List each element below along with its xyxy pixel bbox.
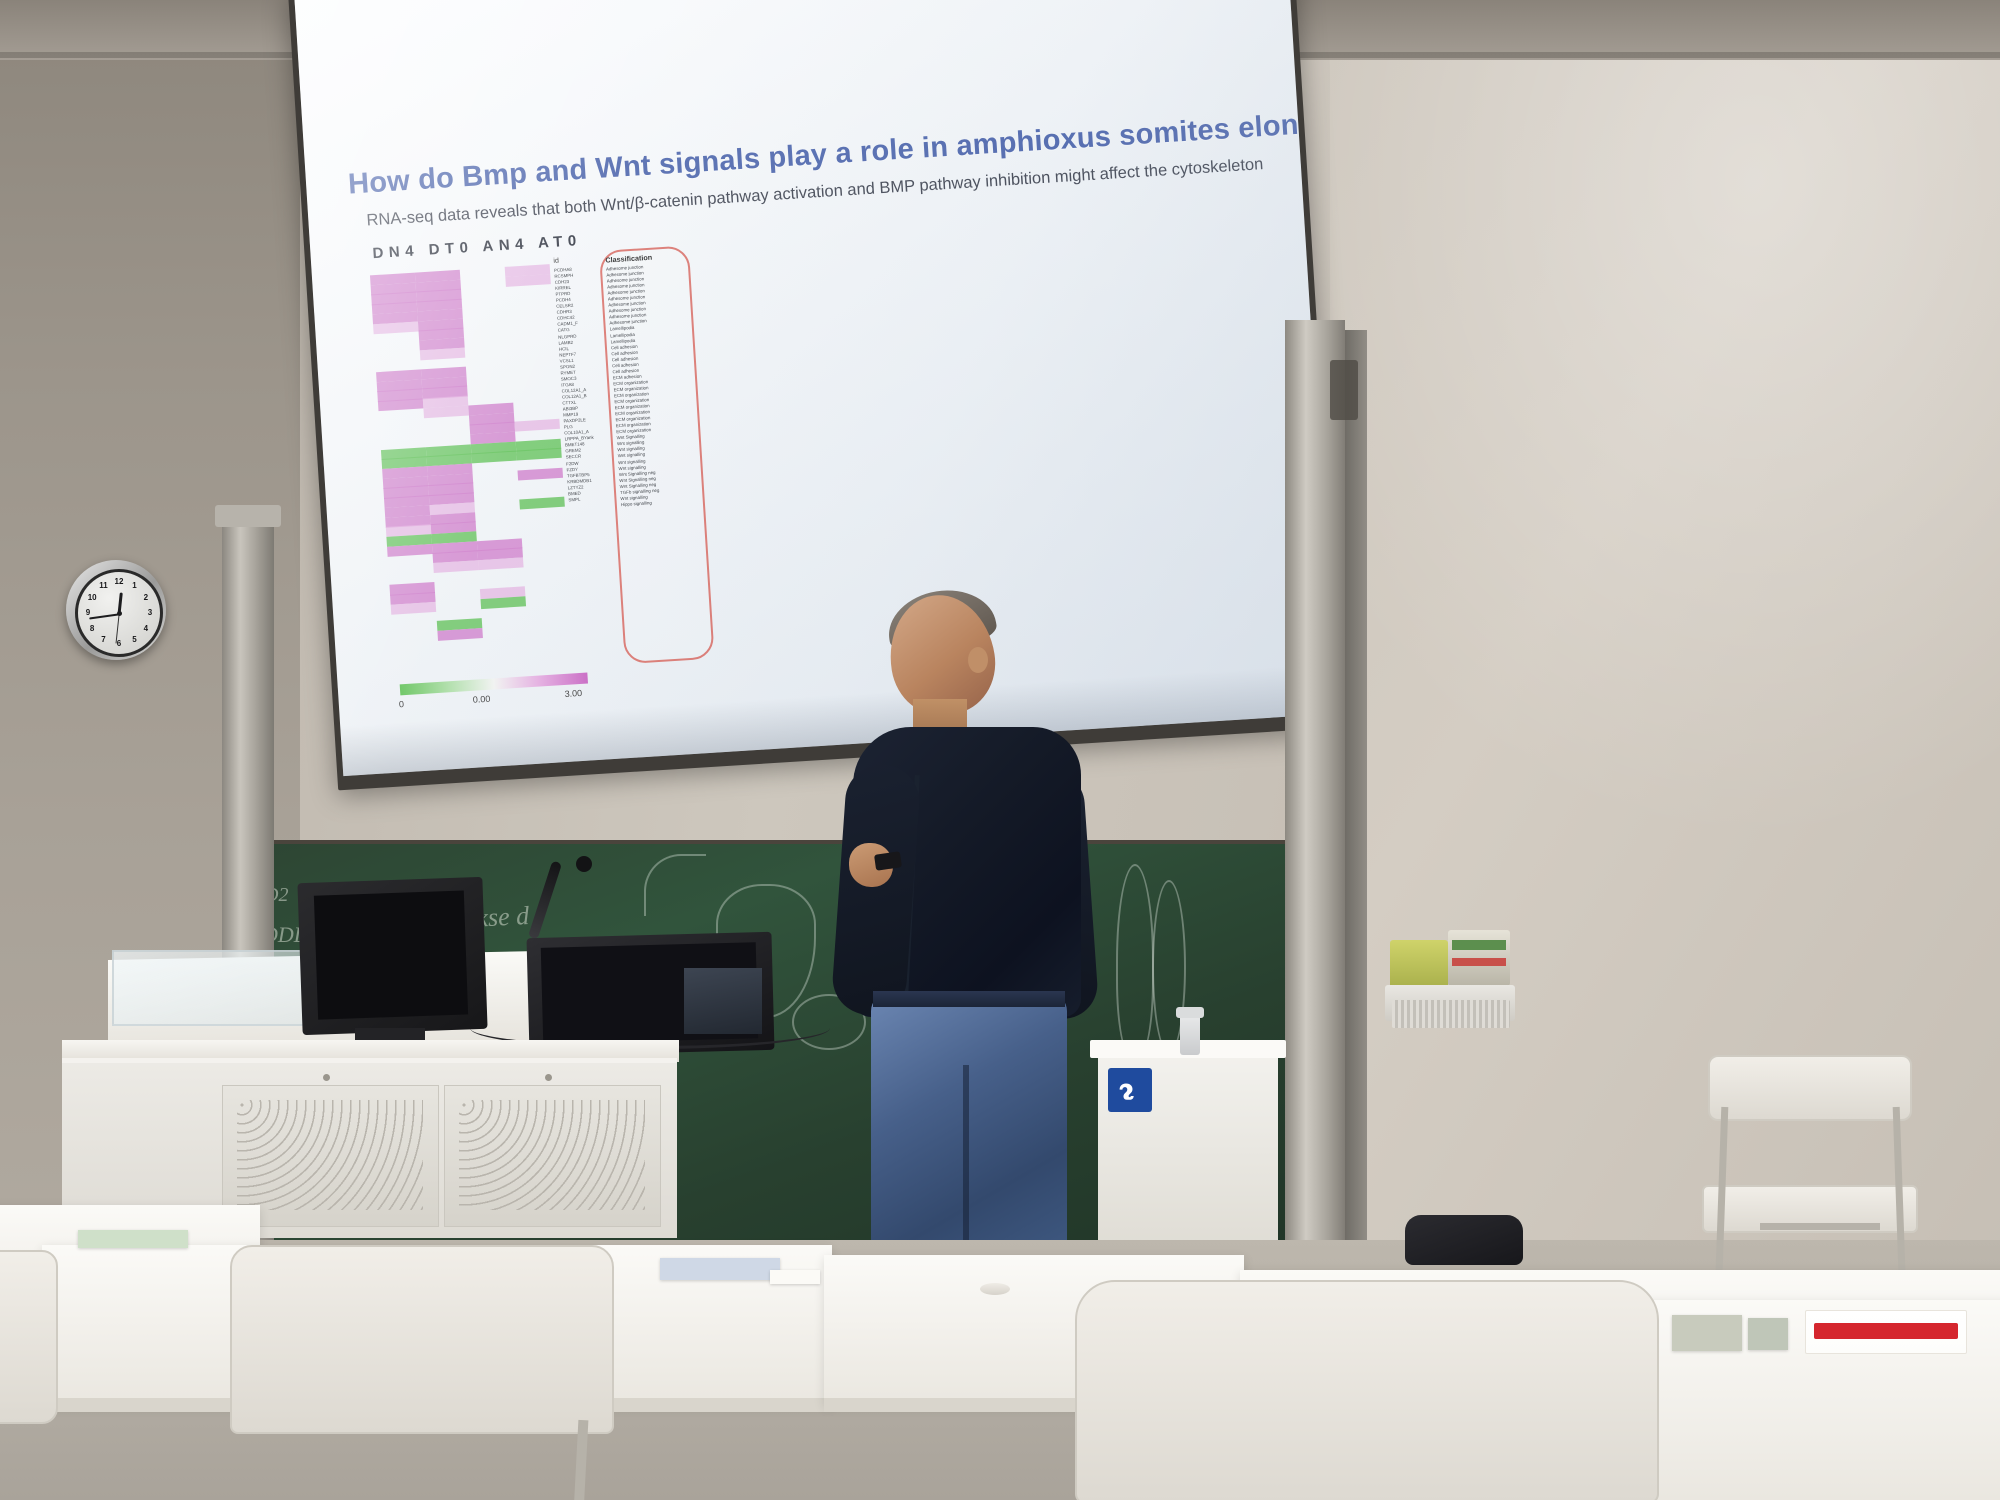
desk-cup-1[interactable] [980,1283,1010,1295]
heatmap-grid [370,264,574,665]
flyer-red-band [1814,1323,1958,1339]
backpack[interactable] [1405,1215,1523,1265]
presenter-jeans [871,993,1067,1255]
screen-support-post-right [1285,320,1345,1260]
spray-bottle[interactable] [1180,1015,1200,1055]
desktop-monitor[interactable] [297,877,487,1035]
control-panel[interactable] [684,968,762,1034]
presenter [835,595,1135,1255]
classification-list: Adhesome junctionAdhesome junctionAdheso… [606,262,701,508]
screen-post-cap [215,505,281,527]
chalk-box[interactable] [1448,930,1510,986]
colorbar-low-label: 0 [399,699,405,709]
wall-speaker [1330,360,1358,420]
clock-numeral: 10 [86,593,98,602]
heatmap-cell [391,602,437,615]
spray-bottle-nozzle [1176,1007,1204,1018]
cabinet-vent-right [459,1100,645,1210]
chair-front-left[interactable] [0,1250,54,1500]
cabinet-vent-left [237,1100,423,1210]
clock-numeral: 8 [86,624,98,633]
heatmap-cell [437,628,483,641]
presenter-ear [968,647,988,673]
heatmap-cell [373,321,419,334]
chalk-drawing-curve [644,854,706,916]
chair-right-back[interactable] [1700,1055,1920,1295]
colorbar-high-label: 3.00 [564,688,582,699]
wall-shelf-rack [1392,1000,1510,1028]
paper-handout-1[interactable] [78,1230,188,1248]
colorbar-mid-label: 0.00 [472,694,490,705]
paper-handout-3[interactable] [770,1270,820,1284]
heatmap-cell [420,347,466,360]
heatmap-cell [480,596,526,609]
paper-flyer[interactable] [1805,1310,1967,1354]
clock-numeral: 6 [113,639,125,648]
monitor-screen [314,890,468,1019]
heatmap-cell [505,274,551,287]
chair-backrest [1708,1055,1912,1121]
clock-numeral: 1 [129,581,141,590]
cabinet-knob-right[interactable] [545,1074,552,1081]
clock-numeral: 5 [129,635,141,644]
cabinet-door-right[interactable] [444,1085,661,1227]
heatmap-id-header: id [553,258,559,265]
clock-numeral: 7 [98,635,110,644]
chair-front-left-backrest [0,1250,58,1424]
screen-support-post-right-edge [1345,330,1367,1255]
clock-numeral: 11 [98,581,110,590]
heatmap-cell [478,557,524,570]
paper-photo-2[interactable] [1748,1318,1788,1350]
chair-leg-c [1760,1223,1880,1230]
lecture-hall-photo: merdakse d D2 DDD1 EXXFM How do Bmp and … [0,0,2000,1500]
clock-face: 121234567891011 [75,569,163,657]
heatmap-cell [433,560,479,573]
chalk-box-stripe-red [1452,958,1506,966]
clock-numeral: 12 [113,577,125,586]
heatmap-cell [516,448,562,461]
projection-screen: How do Bmp and Wnt signals play a role i… [288,0,1347,800]
heatmap-cell [387,544,433,557]
glass-panel [112,950,326,1026]
clock-numeral: 9 [82,608,94,617]
heatmap-cell [378,398,424,411]
chair-front-middle[interactable] [230,1245,610,1500]
clock-center-pin [117,611,122,616]
clock-numeral: 2 [140,593,152,602]
chalk-box-stripe-green [1452,940,1506,950]
cabinet-knob-left[interactable] [323,1074,330,1081]
heatmap-cell [517,467,563,480]
heatmap-cell [423,405,469,418]
chair-front-right-backrest [1075,1280,1659,1500]
heatmap-cell [514,419,560,432]
chair-front-middle-backrest [230,1245,614,1434]
wall-clock: 121234567891011 [66,560,166,660]
clock-numeral: 3 [144,608,156,617]
presenter-jeans-seam [963,1065,969,1255]
presenter-belt [873,991,1065,1007]
projected-slide: How do Bmp and Wnt signals play a role i… [294,0,1335,776]
paper-handout-2[interactable] [660,1258,780,1280]
heatmap-cell [471,451,517,464]
microphone-head [576,856,592,872]
paper-photo-1[interactable] [1672,1315,1742,1351]
clock-numeral: 4 [140,624,152,633]
chair-front-right[interactable] [1075,1280,1655,1500]
blackboard-sponge[interactable] [1390,940,1448,988]
heatmap-figure: DN4 DT0 AN4 AT0 id PCDHA8RCSMPHCDH23KIRR… [366,227,694,705]
heatmap-cell [519,496,565,509]
